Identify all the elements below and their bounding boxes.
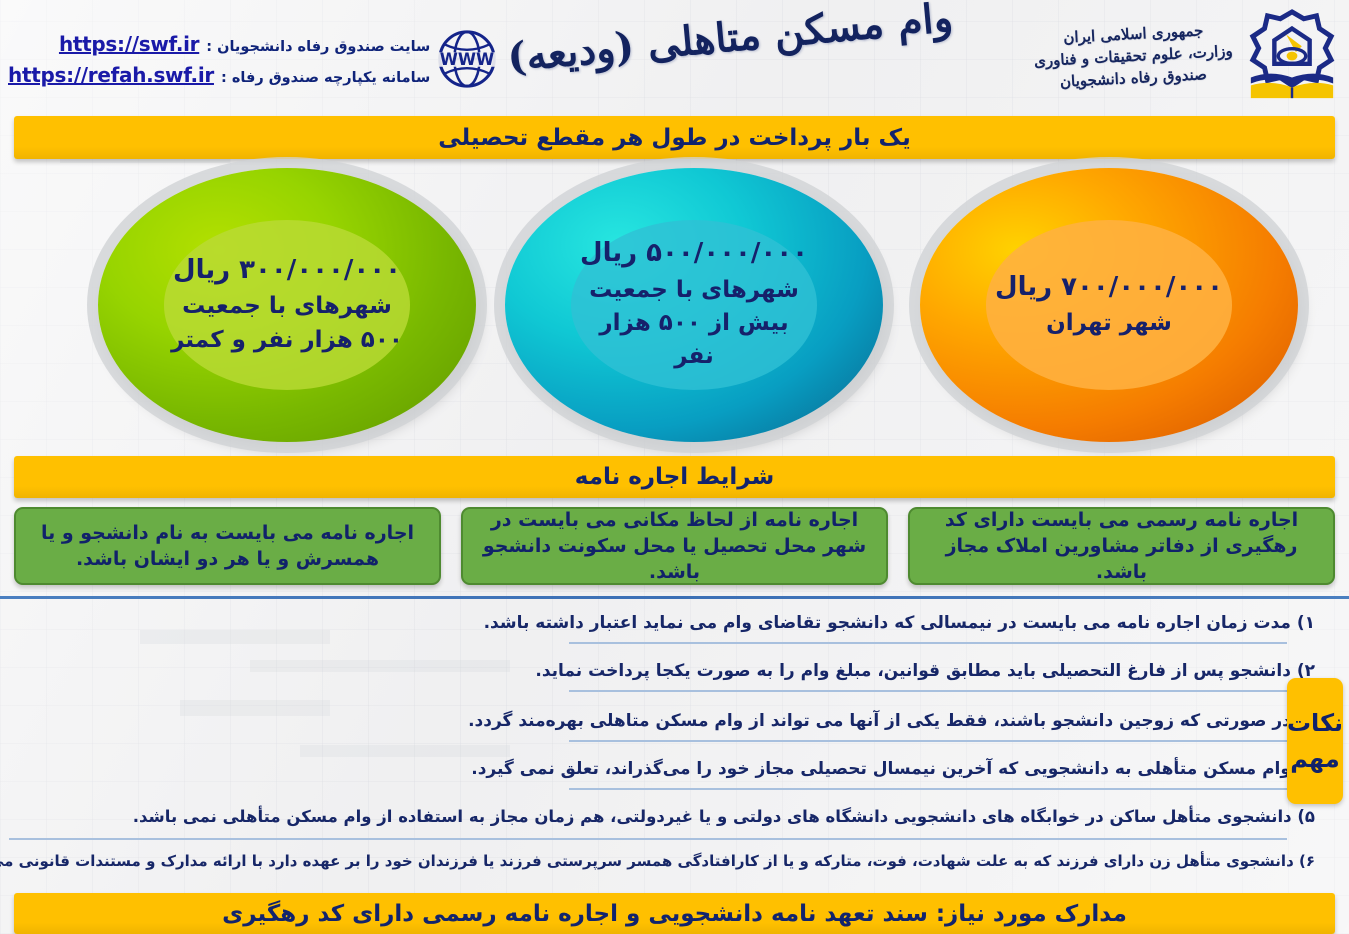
link-row-swf[interactable]: سایت صندوق رفاه دانشجویان : https://swf.…: [8, 32, 430, 56]
note-item: ۴) وام مسکن متأهلی به دانشجویی که آخرین …: [71, 758, 1349, 780]
notes-tab-line1: نکات: [1287, 709, 1343, 737]
note-item: ۵) دانشجوی متأهل ساکن در خوابگاه های دان…: [71, 806, 1349, 827]
note-separator: [569, 788, 1287, 790]
page-title: وام مسکن متاهلی (ودیعه): [494, 0, 966, 82]
link-label-swf: سایت صندوق رفاه دانشجویان :: [206, 39, 430, 55]
banner-rent-conditions: شرایط اجاره نامه: [14, 456, 1335, 498]
banner-payment-frequency-text: یک بار پرداخت در طول هر مقطع تحصیلی: [438, 125, 910, 151]
svg-text:WWW: WWW: [440, 50, 494, 69]
note-text-5: ۵) دانشجوی متأهل ساکن در خوابگاه های دان…: [133, 806, 1315, 827]
link-url-refah[interactable]: https://refah.swf.ir: [8, 63, 214, 87]
condition-text-tracking-code: اجاره نامه رسمی می بایست دارای کد رهگیری…: [922, 507, 1321, 586]
loan-bubble-large-cities: ۵۰۰/۰۰۰/۰۰۰ ریال شهرهای با جمعیت بیش از …: [505, 168, 883, 442]
loan-desc-tehran: شهر تهران: [1046, 307, 1172, 340]
infographic-page: WWW سایت صندوق رفاه دانشجویان : https://…: [0, 0, 1349, 934]
note-separator: [569, 740, 1287, 742]
note-text-6: ۶) دانشجوی متأهل زن دارای فرزند که به عل…: [0, 852, 1315, 872]
loan-amount-large-cities: ۵۰۰/۰۰۰/۰۰۰ ریال: [580, 236, 808, 271]
condition-box-location: اجاره نامه از لحاظ مکانی می بایست در شهر…: [461, 507, 888, 585]
banner-required-documents: مدارک مورد نیاز: سند تعهد نامه دانشجویی …: [14, 893, 1335, 934]
loan-desc-small-cities: شهرهای با جمعیت ۵۰۰ هزار نفر و کمتر: [170, 290, 404, 357]
condition-box-tracking-code: اجاره نامه رسمی می بایست دارای کد رهگیری…: [908, 507, 1335, 585]
globe-www-icon: WWW: [436, 28, 498, 90]
note-text-1: ۱) مدت زمان اجاره نامه می بایست در نیمسا…: [484, 612, 1315, 634]
page-header: WWW سایت صندوق رفاه دانشجویان : https://…: [0, 0, 1349, 115]
loan-bubble-small-cities: ۳۰۰/۰۰۰/۰۰۰ ریال شهرهای با جمعیت ۵۰۰ هزا…: [98, 168, 476, 442]
note-item: ۲) دانشجو پس از فارغ التحصیلی باید مطابق…: [71, 660, 1349, 682]
student-welfare-fund-emblem-icon: [1243, 6, 1341, 106]
banner-rent-conditions-text: شرایط اجاره نامه: [575, 464, 774, 490]
condition-box-name-holder: اجاره نامه می بایست به نام دانشجو و یا ه…: [14, 507, 441, 585]
note-text-4: ۴) وام مسکن متأهلی به دانشجویی که آخرین …: [471, 758, 1315, 780]
notes-tab-line2: مهم: [1290, 745, 1340, 773]
loan-amount-small-cities: ۳۰۰/۰۰۰/۰۰۰ ریال: [173, 253, 401, 288]
link-row-refah[interactable]: سامانه یکپارچه صندوق رفاه : https://refa…: [8, 63, 430, 87]
note-item: ۶) دانشجوی متأهل زن دارای فرزند که به عل…: [71, 852, 1349, 872]
important-notes-tab: نکات مهم: [1287, 678, 1343, 804]
note-separator: [569, 642, 1287, 644]
banner-payment-frequency: یک بار پرداخت در طول هر مقطع تحصیلی: [14, 116, 1335, 159]
banner-required-documents-text: مدارک مورد نیاز: سند تعهد نامه دانشجویی …: [222, 901, 1127, 927]
note-text-2: ۲) دانشجو پس از فارغ التحصیلی باید مطابق…: [535, 660, 1315, 682]
link-url-swf[interactable]: https://swf.ir: [59, 32, 199, 56]
rent-conditions-row: اجاره نامه رسمی می بایست دارای کد رهگیری…: [14, 507, 1335, 585]
note-text-3: ۳) در صورتی که زوجین دانشجو باشند، فقط ی…: [468, 710, 1315, 732]
loan-desc-large-cities: شهرهای با جمعیت بیش از ۵۰۰ هزار نفر: [577, 274, 811, 374]
important-notes-section: ۱) مدت زمان اجاره نامه می بایست در نیمسا…: [0, 602, 1349, 887]
note-separator: [569, 690, 1287, 692]
note-separator: [9, 838, 1287, 840]
loan-amount-tehran: ۷۰۰/۰۰۰/۰۰۰ ریال: [995, 270, 1223, 305]
condition-text-name-holder: اجاره نامه می بایست به نام دانشجو و یا ه…: [28, 520, 427, 572]
loan-amounts-row: ۳۰۰/۰۰۰/۰۰۰ ریال شهرهای با جمعیت ۵۰۰ هزا…: [0, 168, 1349, 453]
link-label-refah: سامانه یکپارچه صندوق رفاه :: [221, 70, 430, 86]
condition-text-location: اجاره نامه از لحاظ مکانی می بایست در شهر…: [475, 507, 874, 586]
website-links-block: WWW سایت صندوق رفاه دانشجویان : https://…: [8, 28, 498, 90]
note-item: ۳) در صورتی که زوجین دانشجو باشند، فقط ی…: [71, 710, 1349, 732]
organization-identity-block: جمهوری اسلامی ایران وزارت، علوم تحقیقات …: [1034, 6, 1341, 106]
note-item: ۱) مدت زمان اجاره نامه می بایست در نیمسا…: [71, 612, 1349, 634]
loan-bubble-tehran: ۷۰۰/۰۰۰/۰۰۰ ریال شهر تهران: [920, 168, 1298, 442]
section-divider: [0, 596, 1349, 599]
